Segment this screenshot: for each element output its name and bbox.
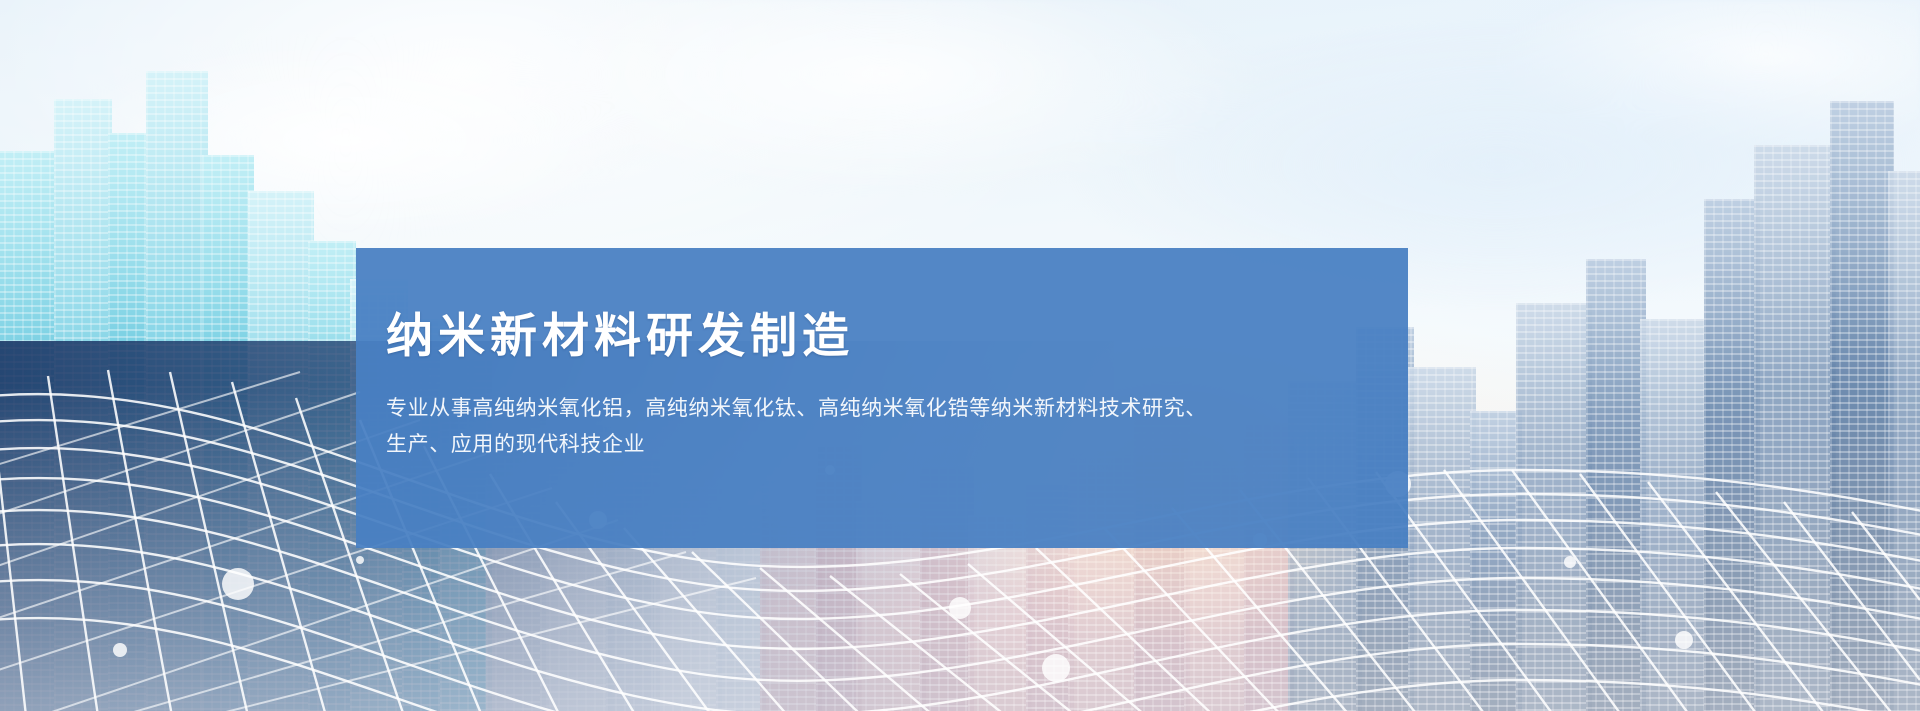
- subtitle-line-1: 专业从事高纯纳米氧化铝，高纯纳米氧化钛、高纯纳米氧化锆等纳米新材料技术研究、: [386, 391, 1386, 427]
- page-subtitle: 专业从事高纯纳米氧化铝，高纯纳米氧化钛、高纯纳米氧化锆等纳米新材料技术研究、 生…: [386, 391, 1386, 463]
- subtitle-line-2: 生产、应用的现代科技企业: [386, 427, 1386, 463]
- hero-banner: 纳米新材料研发制造 专业从事高纯纳米氧化铝，高纯纳米氧化钛、高纯纳米氧化锆等纳米…: [0, 0, 1920, 711]
- page-title: 纳米新材料研发制造: [386, 312, 854, 359]
